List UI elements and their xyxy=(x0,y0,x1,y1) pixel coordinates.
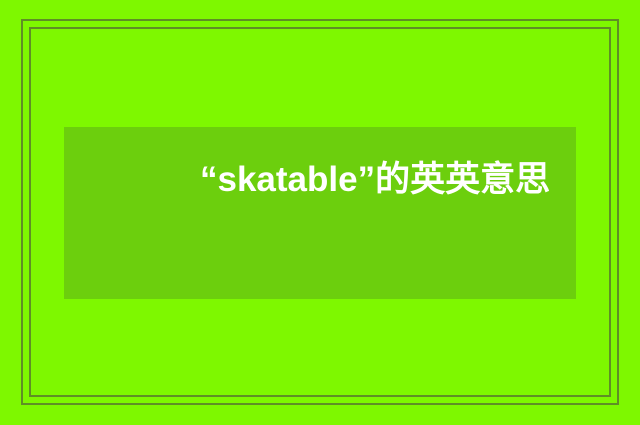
banner-canvas: “skatable”的英英意思 xyxy=(0,0,640,425)
headline-panel: “skatable”的英英意思 xyxy=(64,127,576,299)
headline-text: “skatable”的英英意思 xyxy=(200,149,580,211)
